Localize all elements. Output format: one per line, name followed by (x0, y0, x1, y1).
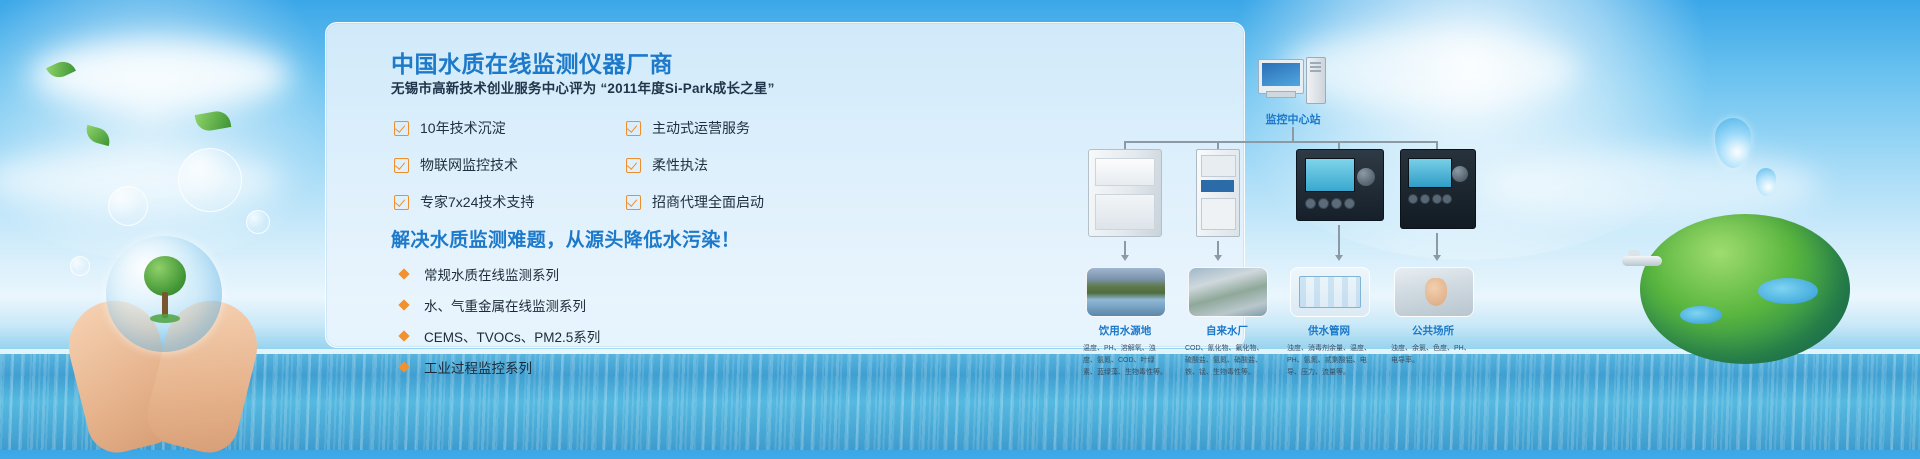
pipe-network-diagram (1290, 267, 1370, 317)
connector-branch (1338, 141, 1340, 149)
bubble-icon (178, 148, 242, 212)
connector-branch (1217, 141, 1219, 149)
diamond-bullet-icon (398, 299, 409, 310)
scene-description: 浊度、消毒剂余量、温度、PH、氨氮、贰剩酸铝、电导、压力、流量等。 (1287, 343, 1371, 379)
checkbox-icon (394, 121, 409, 136)
leaf-icon (48, 62, 78, 92)
scene-card: 自来水厂 COD、氰化物、氟化物、硫酸盐、氨氮、硝酸盐、铁、锰、生物毒性等。 (1188, 267, 1266, 379)
scene-caption: 供水管网 (1290, 323, 1368, 338)
checkbox-icon (394, 158, 409, 173)
product-line-label: CEMS、TVOCs、PM2.5系列 (424, 326, 600, 346)
feature-item: 主动式运营服务 (626, 115, 826, 141)
leaf-icon (85, 128, 115, 158)
connector-branch (1124, 141, 1126, 149)
list-item: 工业过程监控系列 (400, 358, 600, 376)
controller-narrow-icon (1400, 149, 1476, 229)
bubble-icon (108, 186, 148, 226)
scene-card: 饮用水源地 温度、PH、溶解氧、浊度、氨氮、COD、叶绿素、蓝绿藻、生物毒性等。 (1086, 267, 1164, 379)
diamond-bullet-icon (398, 330, 409, 341)
product-line-label: 水、气重金属在线监测系列 (424, 295, 586, 315)
arrow-down-icon (1335, 255, 1343, 261)
checkbox-icon (626, 158, 641, 173)
feature-item: 柔性执法 (626, 152, 826, 178)
computer-workstation-icon (1258, 57, 1328, 107)
connector-branch (1436, 141, 1438, 149)
rack-analyzer-icon (1196, 149, 1240, 237)
connector-bus (1124, 141, 1437, 143)
scene-caption: 自来水厂 (1188, 323, 1266, 338)
monitoring-topology-diagram: 监控中心站 (1078, 51, 1548, 361)
connector-trunk (1292, 127, 1294, 141)
product-line-list: 常规水质在线监测系列 水、气重金属在线监测系列 CEMS、TVOCs、PM2.5… (400, 265, 600, 389)
faucet-icon (1622, 256, 1666, 268)
diamond-bullet-icon (398, 268, 409, 279)
water-drop-icon (1715, 118, 1751, 168)
hub-label: 监控中心站 (1228, 111, 1358, 127)
checkbox-icon (626, 195, 641, 210)
connector-down (1436, 233, 1438, 257)
feature-item: 招商代理全面启动 (626, 189, 826, 215)
feature-label: 物联网监控技术 (420, 155, 518, 175)
list-item: CEMS、TVOCs、PM2.5系列 (400, 327, 600, 345)
feature-label: 10年技术沉淀 (420, 118, 506, 138)
green-earth-icon (1640, 214, 1850, 364)
arrow-down-icon (1121, 255, 1129, 261)
page-subtitle: 无锡市高新技术创业服务中心评为 “2011年度Si-Park成长之星” (391, 77, 775, 97)
scene-caption: 饮用水源地 (1086, 323, 1164, 338)
diamond-bullet-icon (398, 361, 409, 372)
arrow-down-icon (1433, 255, 1441, 261)
feature-column-right: 主动式运营服务 柔性执法 招商代理全面启动 (626, 115, 826, 226)
feature-label: 主动式运营服务 (652, 118, 750, 138)
feature-label: 柔性执法 (652, 155, 708, 175)
product-line-label: 工业过程监控系列 (424, 357, 532, 377)
checkbox-icon (626, 121, 641, 136)
sky-glow-left (0, 0, 360, 260)
scene-card: 公共场所 浊度、余氯、色度、PH、电导率。 (1394, 267, 1472, 367)
bubble-icon (246, 210, 270, 234)
checkbox-icon (394, 195, 409, 210)
list-item: 水、气重金属在线监测系列 (400, 296, 600, 314)
scene-description: COD、氰化物、氟化物、硫酸盐、氨氮、硝酸盐、铁、锰、生物毒性等。 (1185, 343, 1269, 379)
water-surface (0, 354, 1920, 450)
feature-label: 专家7x24技术支持 (420, 192, 534, 212)
feature-grid: 10年技术沉淀 物联网监控技术 专家7x24技术支持 主动式运营服务 柔性执法 … (394, 115, 714, 226)
feature-label: 招商代理全面启动 (652, 192, 764, 212)
waterworks-photo (1188, 267, 1268, 317)
cabinet-analyzer-icon (1088, 149, 1162, 237)
leaf-icon (196, 112, 226, 142)
scene-caption: 公共场所 (1394, 323, 1472, 338)
list-item: 常规水质在线监测系列 (400, 265, 600, 283)
page-title: 中国水质在线监测仪器厂商 (391, 45, 673, 79)
hands-holding-globe-tree-icon (70, 236, 270, 450)
connector-down (1338, 225, 1340, 257)
controller-wide-icon (1296, 149, 1384, 221)
faucet-hands-photo (1394, 267, 1474, 317)
scene-description: 浊度、余氯、色度、PH、电导率。 (1391, 343, 1475, 367)
scene-description: 温度、PH、溶解氧、浊度、氨氮、COD、叶绿素、蓝绿藻、生物毒性等。 (1083, 343, 1167, 379)
tree-icon (144, 256, 186, 326)
river-mountain-photo (1086, 267, 1166, 317)
arrow-down-icon (1214, 255, 1222, 261)
water-drop-icon (1756, 168, 1776, 196)
scene-card: 供水管网 浊度、消毒剂余量、温度、PH、氨氮、贰剩酸铝、电导、压力、流量等。 (1290, 267, 1368, 379)
content-panel: 中国水质在线监测仪器厂商 无锡市高新技术创业服务中心评为 “2011年度Si-P… (325, 22, 1245, 348)
product-line-label: 常规水质在线监测系列 (424, 264, 559, 284)
slogan-text: 解决水质监测难题，从源头降低水污染！ (391, 225, 740, 252)
